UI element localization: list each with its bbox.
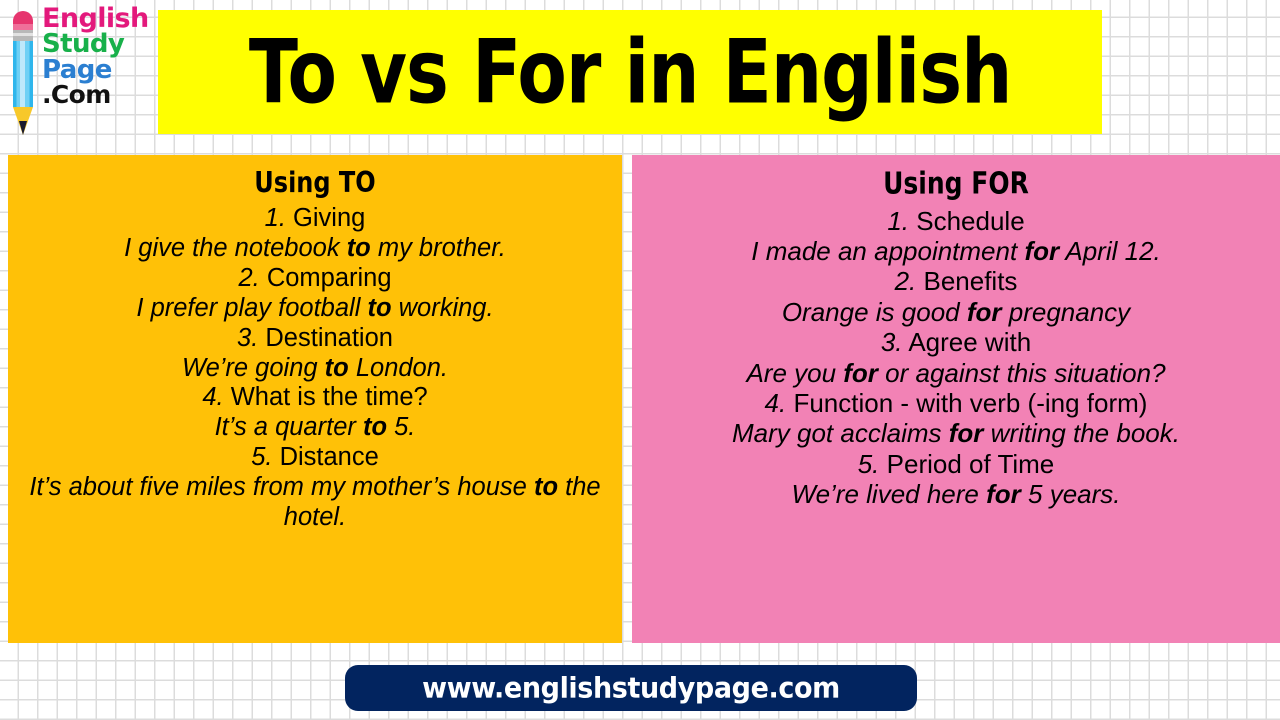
example-pre: We’re lived here [792, 479, 987, 509]
entry-number: 5. [858, 449, 880, 479]
example-post: 5. [387, 413, 415, 441]
entry-label: Function - with verb (-ing form) [793, 388, 1147, 418]
entry-number: 5. [251, 443, 272, 471]
entry-item: 3. Destination We’re going to London. [16, 324, 614, 384]
entry-label: Period of Time [887, 449, 1055, 479]
panel-using-for: Using FOR 1. Schedule I made an appointm… [632, 155, 1280, 643]
entry-number: 4. [202, 383, 223, 411]
entry-item: 5. Distance It’s about five miles from m… [16, 443, 614, 532]
entry-example: I prefer play football to working. [16, 294, 614, 324]
panel-heading-to: Using TO [16, 167, 614, 199]
entry-number: 2. [895, 266, 917, 296]
entry-item: 1. Schedule I made an appointment for Ap… [640, 206, 1272, 267]
entry-example: Orange is good for pregnancy [640, 297, 1272, 327]
entry-title: 3. Destination [16, 324, 614, 354]
entry-label: Agree with [908, 327, 1031, 357]
page-title: To vs For in English [249, 28, 1012, 117]
entry-list-to: 1. Giving I give the notebook to my brot… [16, 204, 614, 532]
entry-example: Mary got acclaims for writing the book. [640, 418, 1272, 448]
example-keyword: for [949, 418, 984, 448]
entry-item: 3. Agree with Are you for or against thi… [640, 327, 1272, 388]
example-keyword: for [967, 297, 1002, 327]
example-keyword: to [534, 473, 558, 501]
entry-title: 2. Benefits [640, 266, 1272, 296]
entry-number: 3. [881, 327, 903, 357]
entry-title: 1. Giving [16, 204, 614, 234]
entry-example: It’s a quarter to 5. [16, 413, 614, 443]
example-pre: Mary got acclaims [732, 418, 949, 448]
example-pre: It’s about five miles from my mother’s h… [29, 473, 534, 501]
logo-word-com: .Com [42, 83, 154, 108]
entry-number: 1. [265, 204, 286, 232]
pencil-icon [8, 7, 38, 143]
entry-title: 5. Distance [16, 443, 614, 473]
entry-item: 4. Function - with verb (-ing form) Mary… [640, 388, 1272, 449]
footer-website-bar[interactable]: www.englishstudypage.com [345, 665, 917, 711]
entry-label: Destination [265, 324, 393, 352]
entry-item: 1. Giving I give the notebook to my brot… [16, 204, 614, 264]
example-pre: I give the notebook [124, 234, 347, 262]
entry-number: 1. [887, 206, 909, 236]
example-pre: Orange is good [782, 297, 967, 327]
entry-title: 1. Schedule [640, 206, 1272, 236]
title-banner: To vs For in English [158, 10, 1102, 134]
entry-label: What is the time? [231, 383, 428, 411]
entry-number: 3. [237, 324, 258, 352]
example-pre: We’re going [182, 354, 325, 382]
entry-example: We’re going to London. [16, 354, 614, 384]
entry-item: 2. Benefits Orange is good for pregnancy [640, 266, 1272, 327]
site-logo: English Study Page .Com [4, 4, 154, 144]
example-keyword: to [363, 413, 387, 441]
example-keyword: to [367, 294, 391, 322]
example-post: pregnancy [1002, 297, 1131, 327]
entry-item: 5. Period of Time We’re lived here for 5… [640, 449, 1272, 510]
infographic-page: English Study Page .Com To vs For in Eng… [0, 0, 1280, 720]
entry-item: 4. What is the time? It’s a quarter to 5… [16, 383, 614, 443]
example-pre: It’s a quarter [215, 413, 363, 441]
example-post: or against this situation? [878, 358, 1166, 388]
entry-title: 4. Function - with verb (-ing form) [640, 388, 1272, 418]
footer-website-url[interactable]: www.englishstudypage.com [422, 672, 840, 705]
entry-number: 2. [238, 264, 259, 292]
entry-title: 3. Agree with [640, 327, 1272, 357]
entry-example: I give the notebook to my brother. [16, 234, 614, 264]
entry-label: Schedule [916, 206, 1024, 236]
entry-label: Giving [293, 204, 365, 232]
example-keyword: for [1024, 236, 1059, 266]
entry-title: 5. Period of Time [640, 449, 1272, 479]
logo-wordmark: English Study Page .Com [42, 6, 154, 108]
example-post: 5 years. [1021, 479, 1121, 509]
entry-label: Benefits [923, 266, 1017, 296]
example-post: London. [349, 354, 448, 382]
entry-example: It’s about five miles from my mother’s h… [16, 473, 614, 533]
entry-item: 2. Comparing I prefer play football to w… [16, 264, 614, 324]
example-pre: I made an appointment [751, 236, 1024, 266]
example-pre: I prefer play football [136, 294, 367, 322]
example-post: April 12. [1059, 236, 1161, 266]
example-keyword: for [843, 358, 878, 388]
example-keyword: for [986, 479, 1021, 509]
panel-heading-for: Using FOR [640, 167, 1272, 200]
entry-label: Comparing [267, 264, 392, 292]
panel-using-to: Using TO 1. Giving I give the notebook t… [8, 155, 622, 643]
entry-list-for: 1. Schedule I made an appointment for Ap… [640, 206, 1272, 510]
example-post: writing the book. [983, 418, 1180, 448]
entry-title: 2. Comparing [16, 264, 614, 294]
entry-number: 4. [765, 388, 787, 418]
example-keyword: to [325, 354, 349, 382]
entry-title: 4. What is the time? [16, 383, 614, 413]
example-post: my brother. [371, 234, 506, 262]
example-keyword: to [347, 234, 371, 262]
entry-example: I made an appointment for April 12. [640, 236, 1272, 266]
example-pre: Are you [746, 358, 843, 388]
example-post: working. [392, 294, 494, 322]
entry-label: Distance [280, 443, 379, 471]
entry-example: We’re lived here for 5 years. [640, 479, 1272, 509]
entry-example: Are you for or against this situation? [640, 358, 1272, 388]
